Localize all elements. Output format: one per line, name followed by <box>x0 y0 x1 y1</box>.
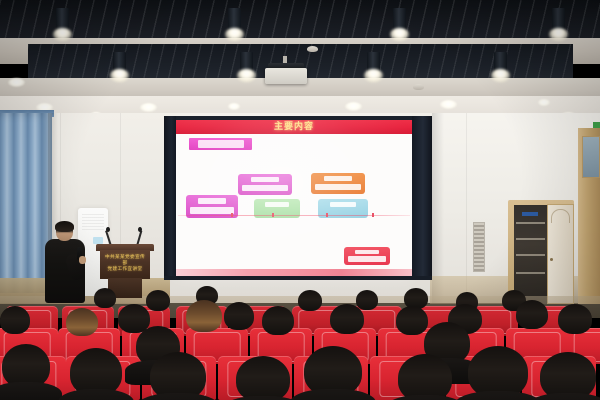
downlight-5 <box>228 103 240 110</box>
audience-member <box>186 300 222 332</box>
box-magenta-top-title <box>251 177 279 182</box>
audience-member <box>150 352 206 400</box>
smoke-detector-icon-1 <box>307 46 318 52</box>
lectern-text-line1: 中共某某党委宣传部 <box>104 254 146 266</box>
downlight-7 <box>345 102 362 111</box>
mic-head-right <box>138 227 142 232</box>
audience-member <box>2 344 50 388</box>
slide-title-text: 主要内容 <box>254 120 334 133</box>
audience-member <box>558 304 592 334</box>
shelf-line-4 <box>516 272 545 274</box>
audience-member <box>356 290 378 310</box>
box-red-bottom-body <box>348 256 387 261</box>
screen-bezel-top <box>164 116 432 120</box>
pendant-light-row2-0 <box>113 52 126 75</box>
audience-member <box>224 302 254 330</box>
audience-member <box>330 304 364 334</box>
slide-timeline-axis <box>178 215 410 216</box>
pendant-light-row2-2 <box>367 52 380 75</box>
wall-vent-icon <box>473 222 485 272</box>
pendant-light-1 <box>228 8 241 34</box>
box-magenta-left-title <box>198 198 225 204</box>
box-cyan-title <box>330 202 356 207</box>
audience-member <box>398 354 452 400</box>
downlight-0 <box>8 78 25 87</box>
presenter <box>44 222 86 302</box>
box-magenta-left-body <box>190 207 234 214</box>
audience-member <box>304 346 362 396</box>
smoke-detector-icon-0 <box>413 84 424 90</box>
downlight-3 <box>140 103 157 112</box>
projection-screen: 主要内容 <box>164 116 432 280</box>
box-orange <box>311 173 365 194</box>
timeline-tick-2 <box>326 213 328 217</box>
audience-member <box>298 290 322 311</box>
screen-bezel-bottom <box>164 276 432 280</box>
ceiling-slats-upper <box>0 0 600 40</box>
downlight-11 <box>538 99 550 106</box>
lectern-text: 中共某某党委宣传部 党建工作宜讲堂 <box>104 254 146 272</box>
downlight-9 <box>440 100 457 109</box>
timeline-tick-0 <box>231 213 233 217</box>
audience-member <box>94 288 116 308</box>
presentation-slide: 主要内容 <box>176 119 412 277</box>
audience-member <box>70 348 122 396</box>
exit-sign-icon <box>593 122 600 128</box>
door-knob-icon[interactable] <box>550 258 553 261</box>
shelf-line-3 <box>516 254 545 256</box>
air-conditioner-panel <box>93 237 103 244</box>
box-magenta-top-body <box>242 185 287 191</box>
pendant-light-2 <box>393 8 406 34</box>
screen-bezel-left <box>164 116 176 280</box>
pendant-light-3 <box>552 8 565 34</box>
timeline-tick-3 <box>372 213 374 217</box>
audience-member <box>468 346 528 398</box>
audience-member <box>236 356 290 400</box>
projector-icon <box>265 68 307 84</box>
audience-member <box>146 290 170 311</box>
box-green-title <box>265 202 289 207</box>
wall-corner-shadow <box>432 113 444 303</box>
audience-member <box>66 308 98 336</box>
timeline-tick-1 <box>272 213 274 217</box>
audience-member <box>396 306 428 335</box>
audience-member <box>0 306 30 334</box>
shelf-line-1 <box>516 222 545 224</box>
pendant-light-row2-3 <box>494 52 507 75</box>
box-magenta-top <box>238 174 292 195</box>
audience-member <box>516 300 548 329</box>
slide-section-tab <box>189 138 252 150</box>
box-orange-body <box>315 184 360 190</box>
doorway-sign <box>522 212 538 216</box>
wall-seam-right <box>466 113 467 303</box>
lectern-text-line2: 党建工作宜讲堂 <box>104 266 146 272</box>
audience-member <box>262 306 294 335</box>
box-red-bottom <box>344 247 390 265</box>
lecture-hall-photo: 主要内容 中共某某党委宣传部 党建工作宜讲堂 <box>0 0 600 400</box>
door-arch-detail <box>551 209 570 223</box>
presenter-hair <box>55 221 74 232</box>
presenter-hand <box>79 256 86 264</box>
shelf-line-2 <box>516 238 545 240</box>
box-orange-title <box>324 176 352 181</box>
audience-member <box>540 352 596 400</box>
pendant-light-0 <box>56 8 69 34</box>
mic-head-left <box>106 227 110 232</box>
box-red-bottom-title <box>355 250 379 255</box>
door-window <box>582 136 600 178</box>
pendant-light-row2-1 <box>240 52 253 75</box>
screen-bezel-right <box>412 116 432 280</box>
